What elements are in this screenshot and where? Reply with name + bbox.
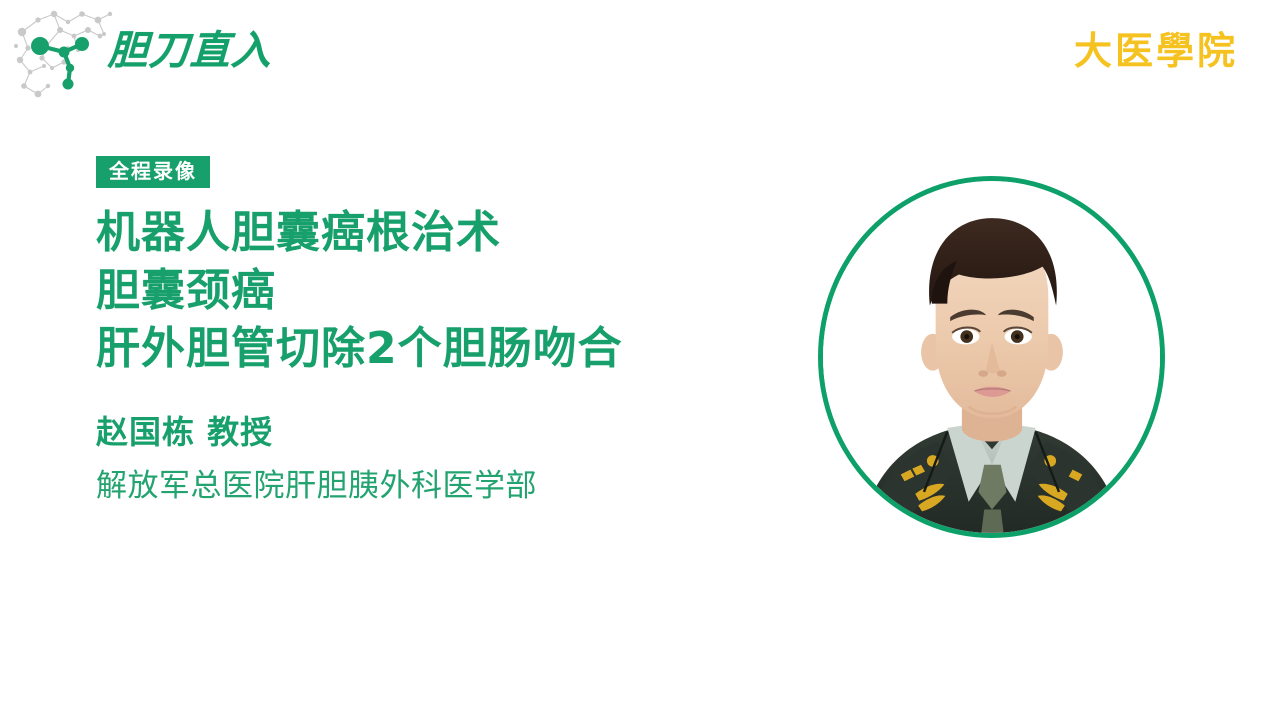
speaker-name: 赵国栋 教授 — [96, 410, 796, 455]
avatar — [818, 176, 1165, 538]
status-badge: 全程录像 — [96, 156, 210, 188]
speaker-info: 赵国栋 教授 解放军总医院肝胆胰外科医学部 — [96, 410, 796, 509]
speaker-affiliation: 解放军总医院肝胆胰外科医学部 — [96, 463, 796, 510]
brand-wordmark: 胆刀直入 — [107, 18, 273, 76]
title-line-3: 肝外胆管切除2个胆肠吻合 — [96, 320, 796, 378]
title-line-1: 机器人胆囊癌根治术 — [96, 204, 796, 262]
network-nodes-icon — [8, 2, 118, 107]
speaker-portrait-image — [823, 181, 1160, 533]
title-line-2: 胆囊颈癌 — [96, 262, 796, 320]
cover-content: 全程录像 机器人胆囊癌根治术 胆囊颈癌 肝外胆管切除2个胆肠吻合 赵国栋 教授 … — [96, 156, 796, 510]
page-title: 机器人胆囊癌根治术 胆囊颈癌 肝外胆管切除2个胆肠吻合 — [96, 204, 796, 378]
academy-wordmark: 大医學院 — [1074, 20, 1238, 75]
course-cover-slide: 胆刀直入 大医學院 全程录像 机器人胆囊癌根治术 胆囊颈癌 肝外胆管切除2个胆肠… — [0, 0, 1280, 720]
